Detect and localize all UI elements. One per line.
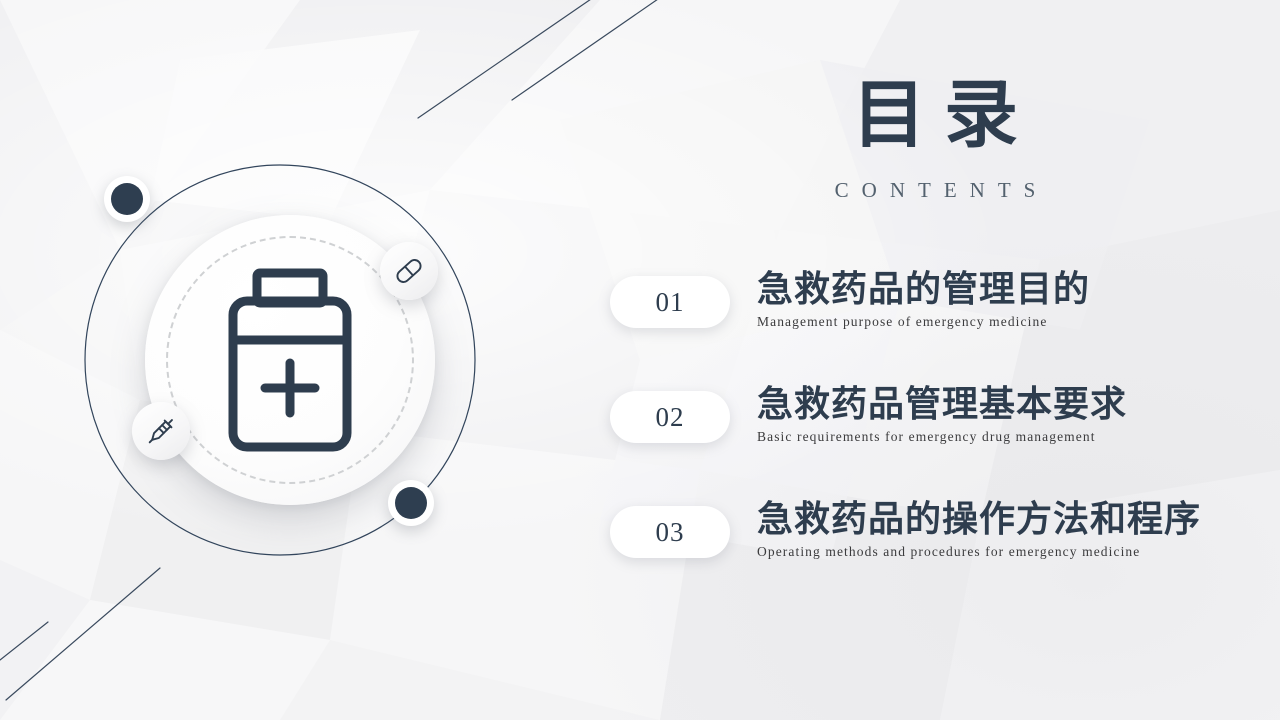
toc-number-badge[interactable]: 03: [610, 506, 730, 558]
toc-title-cn: 急救药品的管理目的: [757, 268, 1090, 312]
toc-title-en: Operating methods and procedures for eme…: [757, 544, 1201, 560]
syringe-icon: [143, 413, 179, 449]
orbit-dot-core: [111, 183, 143, 215]
toc-title-en: Basic requirements for emergency drug ma…: [757, 429, 1127, 445]
medicine-bottle-icon: [223, 268, 357, 452]
orbit-dot-core: [395, 487, 427, 519]
toc-number-badge[interactable]: 01: [610, 276, 730, 328]
content-column: 目录 CONTENTS 01 急救药品的管理目的 Management purp…: [610, 0, 1260, 720]
heading-block: 目录 CONTENTS: [610, 78, 1260, 203]
toc-item-03[interactable]: 03 急救药品的操作方法和程序 Operating methods and pr…: [610, 498, 1260, 613]
page-title: 目录: [610, 78, 1260, 156]
toc-text-group: 急救药品的管理目的 Management purpose of emergenc…: [757, 268, 1090, 330]
syringe-badge[interactable]: [132, 402, 190, 460]
toc-title-en: Management purpose of emergency medicine: [757, 314, 1090, 330]
toc-list: 01 急救药品的管理目的 Management purpose of emerg…: [610, 268, 1260, 613]
toc-title-cn: 急救药品的操作方法和程序: [757, 498, 1201, 542]
toc-item-01[interactable]: 01 急救药品的管理目的 Management purpose of emerg…: [610, 268, 1260, 383]
toc-text-group: 急救药品管理基本要求 Basic requirements for emerge…: [757, 383, 1127, 445]
orbit-dot-bottom-right: [388, 480, 434, 526]
toc-title-cn: 急救药品管理基本要求: [757, 383, 1127, 427]
page-subtitle: CONTENTS: [610, 178, 1260, 203]
pill-badge[interactable]: [380, 242, 438, 300]
toc-number-badge[interactable]: 02: [610, 391, 730, 443]
slide-root: 目录 CONTENTS 01 急救药品的管理目的 Management purp…: [0, 0, 1280, 720]
toc-text-group: 急救药品的操作方法和程序 Operating methods and proce…: [757, 498, 1201, 560]
toc-item-02[interactable]: 02 急救药品管理基本要求 Basic requirements for eme…: [610, 383, 1260, 498]
pill-capsule-icon: [392, 254, 426, 288]
medicine-illustration: [40, 140, 520, 580]
orbit-dot-top-left: [104, 176, 150, 222]
